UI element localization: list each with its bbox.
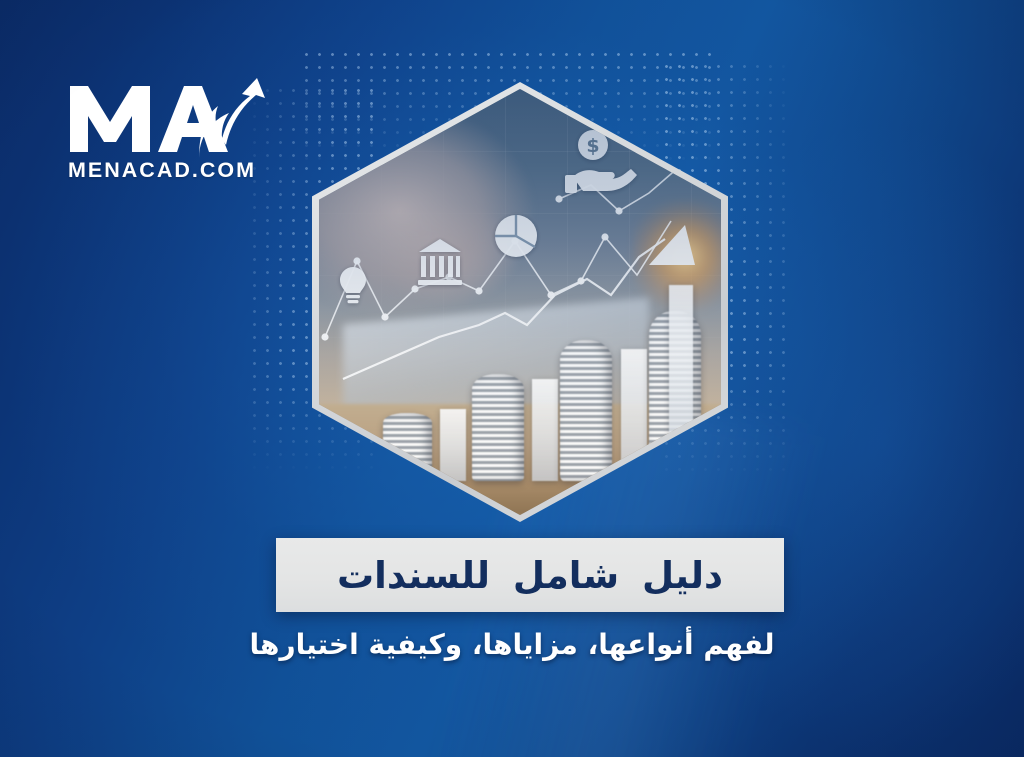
poster-canvas: MENACAD.COM <box>0 0 1024 757</box>
background-vignette <box>0 0 1024 757</box>
